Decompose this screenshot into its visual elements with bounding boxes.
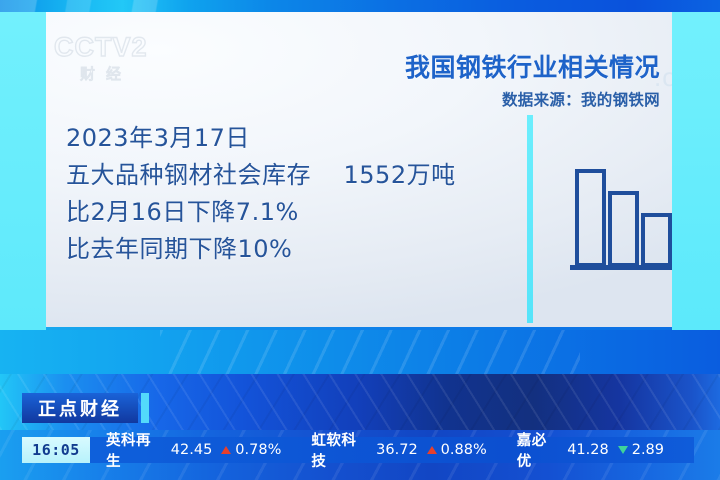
- stock-price: 41.28: [567, 442, 609, 458]
- stock-change: 0.88%: [427, 442, 487, 458]
- stat-line-mom: 比2月16日下降7.1%: [66, 194, 496, 231]
- cctv-logo-number: 2: [132, 32, 148, 62]
- cctv-logo-subtitle: 财经: [80, 63, 184, 84]
- stock-name: 虹软科技: [311, 429, 367, 471]
- left-cyan-rail: [0, 12, 46, 330]
- stock-name: 英科再生: [106, 429, 162, 471]
- stock-price: 36.72: [376, 442, 418, 458]
- stock-change-value: 0.88%: [441, 442, 487, 458]
- broadcast-screen: CCTV2 财经 .om 我国钢铁行业相关情况 数据来源：我的钢铁网 2023年…: [0, 0, 720, 480]
- chart-baseline: [570, 265, 672, 270]
- stat-line-date: 2023年3月17日: [66, 120, 496, 157]
- program-banner-box: 正点财经: [22, 393, 138, 423]
- stock-change-value: 0.78%: [235, 442, 281, 458]
- stock-quote-list: 英科再生 42.45 0.78% 虹软科技 36.72 0.88% 嘉必优 41…: [90, 437, 694, 463]
- right-cyan-rail: [672, 12, 720, 330]
- stock-ticker-bar: 16:05 英科再生 42.45 0.78% 虹软科技 36.72 0.88%: [22, 437, 694, 463]
- bar-2: [610, 193, 637, 265]
- stock-change-value: 2.89: [632, 442, 664, 458]
- statistics-text-block: 2023年3月17日 五大品种钢材社会库存 1552万吨 比2月16日下降7.1…: [66, 120, 496, 268]
- stat-line-yoy: 比去年同期下降10%: [66, 231, 496, 268]
- bar-chart-icon: [566, 157, 672, 277]
- arrow-up-icon: [427, 446, 437, 454]
- page-title: 我国钢铁行业相关情况: [350, 48, 660, 84]
- cctv-logo-text: CCTV2: [54, 34, 184, 61]
- bar-chart-svg: [566, 157, 672, 277]
- cctv-logo-letters: CCTV: [54, 32, 132, 62]
- stock-price: 42.45: [171, 442, 213, 458]
- arrow-up-icon: [221, 446, 231, 454]
- cyan-divider-line: [527, 115, 533, 323]
- stock-quote-item: 嘉必优 41.28 2.89: [517, 429, 664, 471]
- program-banner-accent: [141, 393, 149, 423]
- decor-band-top-texture: [160, 330, 580, 374]
- stock-quote-item: 虹软科技 36.72 0.88%: [311, 429, 486, 471]
- info-panel: CCTV2 财经 .om 我国钢铁行业相关情况 数据来源：我的钢铁网 2023年…: [46, 12, 672, 330]
- program-name-label: 正点财经: [38, 395, 122, 421]
- top-gradient-band: [0, 0, 720, 12]
- stat-line-inventory: 五大品种钢材社会库存 1552万吨: [66, 157, 496, 194]
- bar-3: [643, 215, 670, 265]
- stock-name: 嘉必优: [517, 429, 558, 471]
- cctv2-watermark-logo: CCTV2 财经: [54, 34, 184, 92]
- arrow-down-icon: [618, 446, 628, 454]
- stock-quote-item: 英科再生 42.45 0.78%: [106, 429, 281, 471]
- data-source-subtitle: 数据来源：我的钢铁网: [350, 88, 660, 110]
- bar-1: [577, 171, 604, 265]
- clock-display: 16:05: [22, 437, 90, 463]
- stock-change: 0.78%: [221, 442, 281, 458]
- program-banner: 正点财经: [22, 393, 149, 423]
- stock-change: 2.89: [618, 442, 664, 458]
